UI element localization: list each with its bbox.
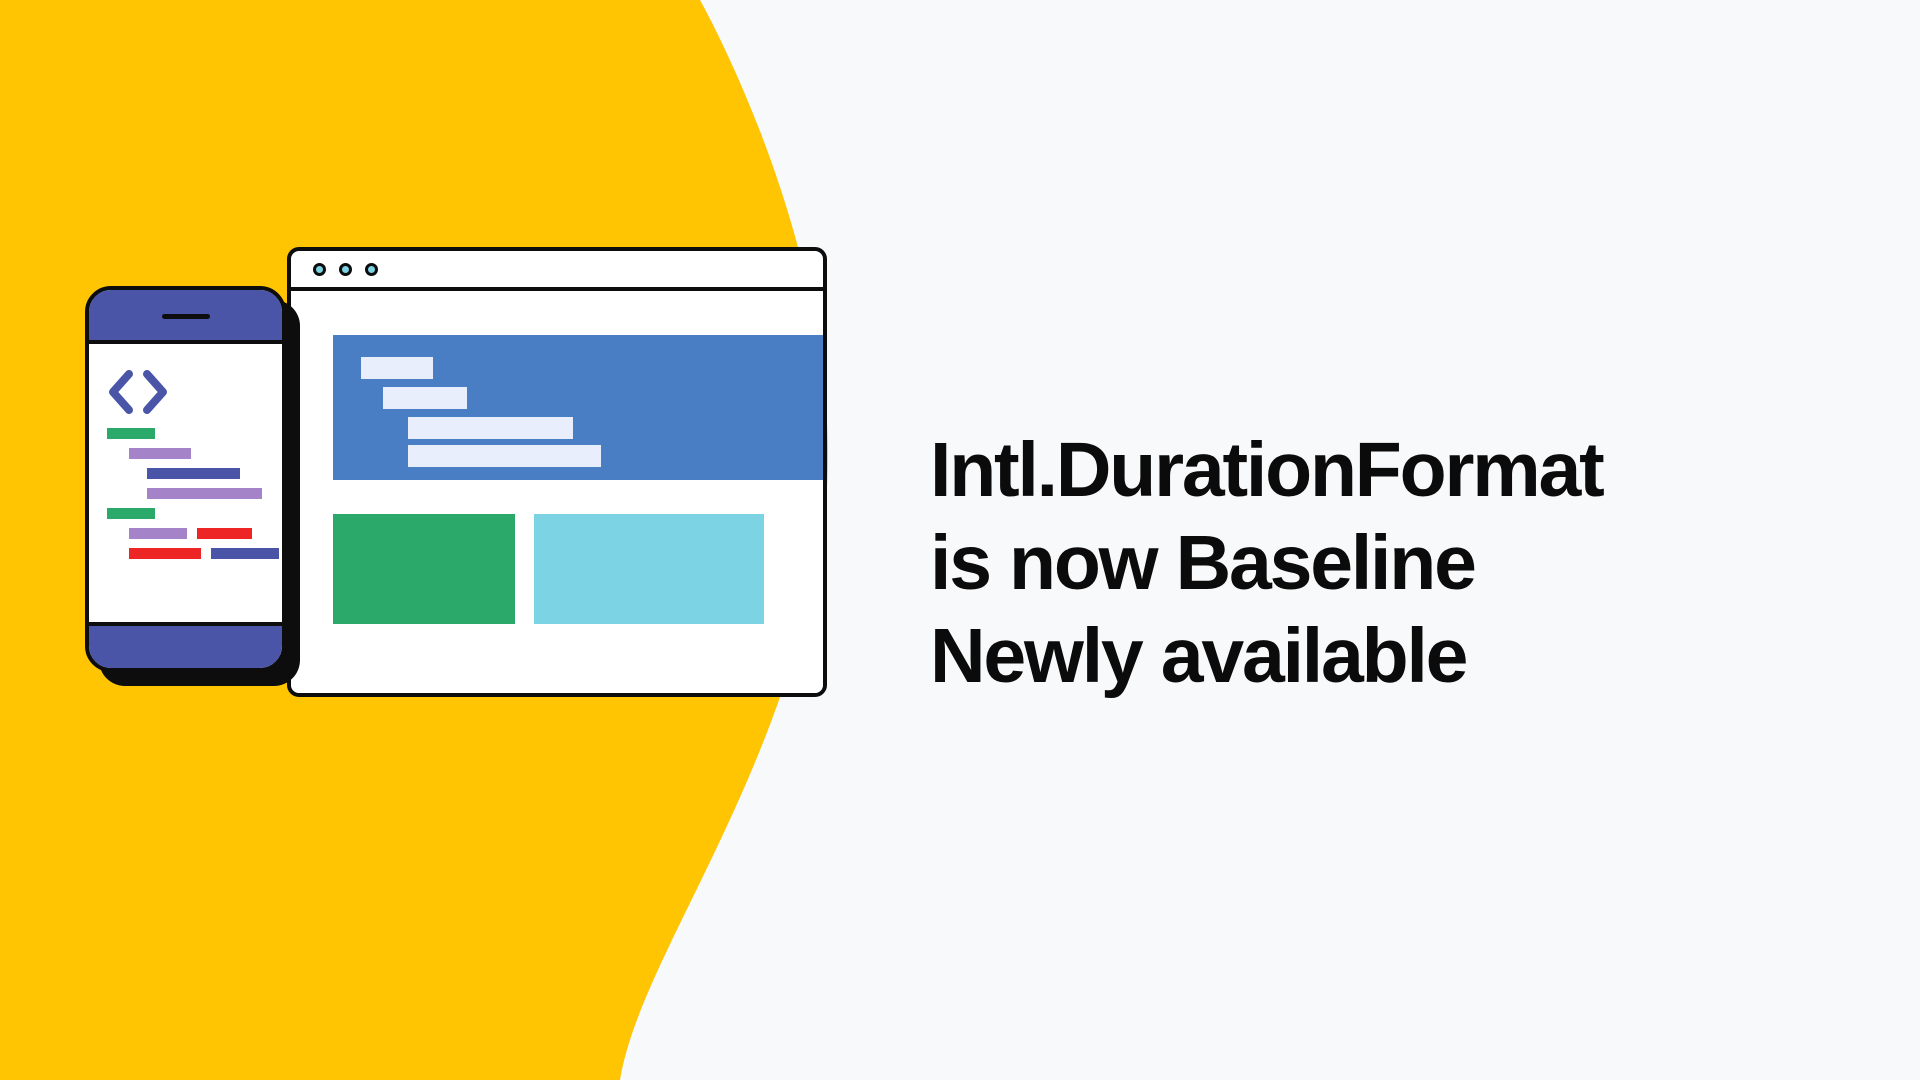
code-line	[211, 548, 279, 559]
headline-line-2: is now Baseline	[930, 517, 1720, 610]
maximize-dot[interactable]	[365, 263, 378, 276]
code-line	[107, 428, 155, 439]
code-line	[129, 448, 191, 459]
headline-line-3: Newly available	[930, 610, 1720, 703]
phone-home-bar	[89, 622, 282, 668]
code-brackets-icon	[107, 370, 169, 414]
browser-mockup	[287, 247, 827, 697]
code-line	[197, 528, 252, 539]
hero-panel	[333, 335, 825, 480]
phone-body	[85, 286, 286, 672]
hero-text-bar	[408, 417, 573, 439]
headline-line-1: Intl.DurationFormat	[930, 424, 1720, 517]
page-title: Intl.DurationFormat is now Baseline Newl…	[930, 424, 1720, 703]
code-line	[129, 528, 187, 539]
browser-content	[291, 291, 823, 693]
code-line	[147, 468, 240, 479]
close-dot[interactable]	[313, 263, 326, 276]
minimize-dot[interactable]	[339, 263, 352, 276]
code-line	[147, 488, 262, 499]
content-tile-green	[333, 514, 515, 624]
hero-text-bar	[361, 357, 433, 379]
promo-banner: Intl.DurationFormat is now Baseline Newl…	[0, 0, 1920, 1080]
phone-speaker	[162, 314, 210, 319]
browser-frame	[287, 247, 827, 697]
code-line	[129, 548, 201, 559]
phone-mockup	[85, 286, 300, 686]
hero-text-bar	[408, 445, 601, 467]
browser-titlebar	[291, 251, 823, 291]
hero-text-bar	[383, 387, 467, 409]
phone-earpiece-bar	[89, 290, 282, 344]
phone-screen	[89, 344, 282, 622]
content-tile-cyan	[534, 514, 764, 624]
code-line	[107, 508, 155, 519]
